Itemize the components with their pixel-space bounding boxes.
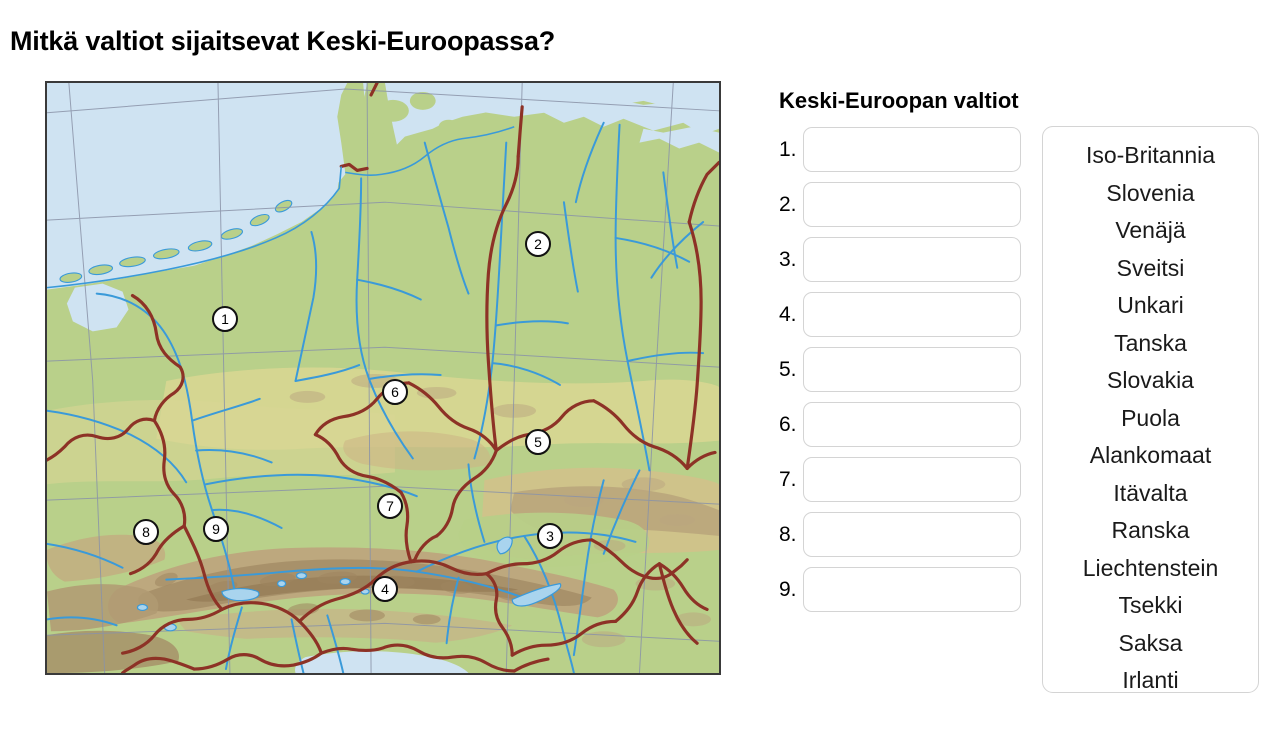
blank-number: 2. [779, 193, 803, 217]
blank-row: 7. [779, 456, 1021, 503]
word-bank-item[interactable]: Irlanti [1122, 662, 1178, 700]
blank-row: 3. [779, 236, 1021, 283]
answer-dropzone-5[interactable] [803, 347, 1021, 392]
blank-number: 8. [779, 523, 803, 547]
blank-number: 4. [779, 303, 803, 327]
blank-row: 4. [779, 291, 1021, 338]
blank-number: 7. [779, 468, 803, 492]
map-marker-8[interactable]: 8 [133, 519, 159, 545]
answer-dropzone-9[interactable] [803, 567, 1021, 612]
worksheet-page: Mitkä valtiot sijaitsevat Keski-Euroopas… [0, 0, 1265, 742]
word-bank-item[interactable]: Slovakia [1107, 362, 1194, 400]
answer-dropzone-8[interactable] [803, 512, 1021, 557]
map-marker-5[interactable]: 5 [525, 429, 551, 455]
word-bank-item[interactable]: Liechtenstein [1083, 550, 1219, 588]
map-marker-7[interactable]: 7 [377, 493, 403, 519]
map-marker-3[interactable]: 3 [537, 523, 563, 549]
word-bank: Iso-Britannia Slovenia Venäjä Sveitsi Un… [1042, 126, 1259, 693]
map-marker-6[interactable]: 6 [382, 379, 408, 405]
answer-dropzone-6[interactable] [803, 402, 1021, 447]
blank-row: 9. [779, 566, 1021, 613]
blank-number: 9. [779, 578, 803, 602]
map-marker-1[interactable]: 1 [212, 306, 238, 332]
blank-row: 5. [779, 346, 1021, 393]
word-bank-item[interactable]: Ranska [1112, 512, 1190, 550]
word-bank-item[interactable]: Puola [1121, 400, 1180, 438]
map-marker-4[interactable]: 4 [372, 576, 398, 602]
answer-dropzone-7[interactable] [803, 457, 1021, 502]
word-bank-item[interactable]: Slovenia [1106, 175, 1194, 213]
word-bank-item[interactable]: Sveitsi [1117, 250, 1185, 288]
word-bank-item[interactable]: Iso-Britannia [1086, 137, 1215, 175]
blank-number: 6. [779, 413, 803, 437]
map-container[interactable]: 1 2 3 4 5 6 7 8 9 [45, 81, 721, 675]
answer-dropzone-1[interactable] [803, 127, 1021, 172]
panel-heading: Keski-Euroopan valtiot [779, 88, 1019, 114]
answer-dropzone-4[interactable] [803, 292, 1021, 337]
word-bank-item[interactable]: Unkari [1117, 287, 1183, 325]
blank-row: 8. [779, 511, 1021, 558]
answer-panel: Keski-Euroopan valtiot 1. 2. 3. 4. 5. [779, 88, 1259, 708]
answer-dropzone-2[interactable] [803, 182, 1021, 227]
map-marker-2[interactable]: 2 [525, 231, 551, 257]
blank-row: 2. [779, 181, 1021, 228]
word-bank-item[interactable]: Alankomaat [1090, 437, 1211, 475]
page-title: Mitkä valtiot sijaitsevat Keski-Euroopas… [10, 26, 555, 57]
blank-row: 6. [779, 401, 1021, 448]
blank-number: 5. [779, 358, 803, 382]
word-bank-item[interactable]: Tsekki [1119, 587, 1183, 625]
answer-blanks-list: 1. 2. 3. 4. 5. 6. [779, 126, 1021, 621]
map-marker-9[interactable]: 9 [203, 516, 229, 542]
word-bank-item[interactable]: Saksa [1119, 625, 1183, 663]
blank-row: 1. [779, 126, 1021, 173]
blank-number: 3. [779, 248, 803, 272]
word-bank-item[interactable]: Itävalta [1113, 475, 1187, 513]
word-bank-item[interactable]: Venäjä [1115, 212, 1185, 250]
blank-number: 1. [779, 138, 803, 162]
word-bank-item[interactable]: Tanska [1114, 325, 1187, 363]
answer-dropzone-3[interactable] [803, 237, 1021, 282]
